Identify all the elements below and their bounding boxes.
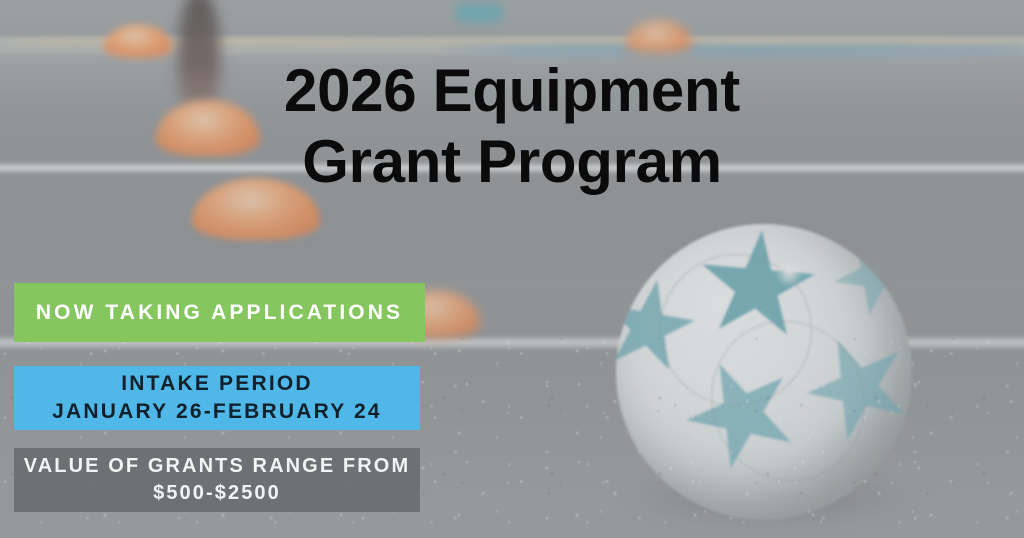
grant-program-poster: 2026 Equipment Grant Program NOW TAKING … [0, 0, 1024, 538]
intake-banner-text: INTAKE PERIOD JANUARY 26-FEBRUARY 24 [52, 370, 382, 425]
applications-banner-text: NOW TAKING APPLICATIONS [36, 301, 403, 325]
status-badge-grant-value: VALUE OF GRANTS RANGE FROM $500-$2500 [14, 448, 420, 512]
intake-banner-line-2: JANUARY 26-FEBRUARY 24 [52, 398, 382, 426]
grant-value-banner-line-2: $500-$2500 [24, 480, 410, 507]
status-badge-applications: NOW TAKING APPLICATIONS [14, 283, 425, 342]
page-title-line-2: Grant Program [40, 127, 984, 198]
grant-value-banner-text: VALUE OF GRANTS RANGE FROM $500-$2500 [24, 453, 410, 507]
page-title: 2026 Equipment Grant Program [0, 56, 1024, 198]
page-title-line-1: 2026 Equipment [40, 56, 984, 127]
status-badge-intake-period: INTAKE PERIOD JANUARY 26-FEBRUARY 24 [14, 366, 420, 430]
applications-banner-line-1: NOW TAKING APPLICATIONS [36, 301, 403, 325]
intake-banner-line-1: INTAKE PERIOD [52, 370, 382, 398]
grant-value-banner-line-1: VALUE OF GRANTS RANGE FROM [24, 453, 410, 480]
